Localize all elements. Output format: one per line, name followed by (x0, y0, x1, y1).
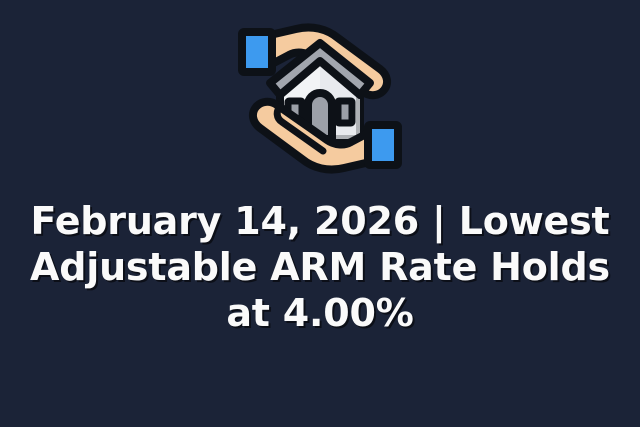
rate-announcement-card: February 14, 2026 | Lowest Adjustable AR… (0, 0, 640, 427)
page-title: February 14, 2026 | Lowest Adjustable AR… (0, 198, 640, 336)
top-hand-cuff (242, 32, 272, 72)
hands-protecting-house-icon (234, 21, 406, 176)
bottom-hand-cuff (368, 125, 398, 165)
house-window-right (338, 101, 352, 123)
